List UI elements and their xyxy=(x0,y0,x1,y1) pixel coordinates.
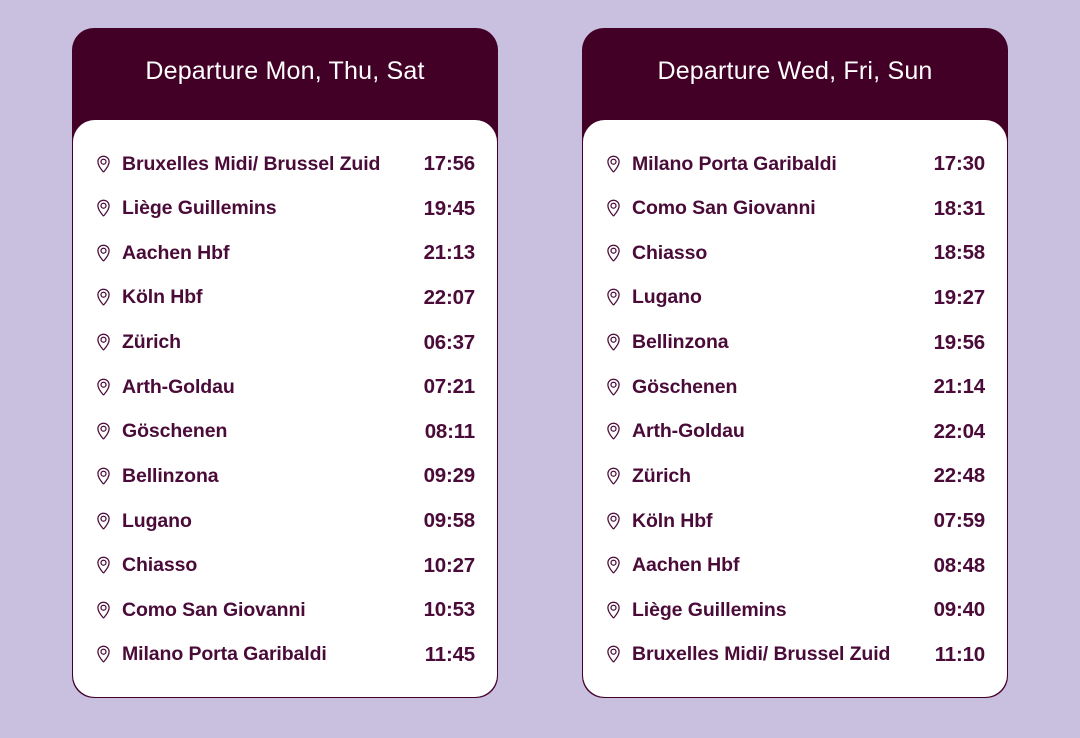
location-pin-icon xyxy=(605,556,622,575)
stop-name: Bruxelles Midi/ Brussel Zuid xyxy=(632,643,913,666)
location-pin-icon xyxy=(95,333,112,352)
stop-row[interactable]: Bruxelles Midi/ Brussel Zuid 17:56 xyxy=(95,142,475,186)
stop-time: 10:53 xyxy=(412,598,475,622)
stop-name: Arth-Goldau xyxy=(122,376,402,399)
stop-row[interactable]: Zürich 22:48 xyxy=(605,454,985,498)
card-title: Departure Wed, Fri, Sun xyxy=(657,57,932,86)
stop-time: 06:37 xyxy=(412,331,475,355)
stop-row[interactable]: Chiasso 18:58 xyxy=(605,231,985,275)
location-pin-icon xyxy=(95,467,112,486)
stop-time: 19:45 xyxy=(412,197,475,221)
stop-time: 08:11 xyxy=(413,420,475,444)
stop-time: 21:14 xyxy=(922,375,985,399)
stop-row[interactable]: Lugano 09:58 xyxy=(95,499,475,543)
stop-time: 11:10 xyxy=(923,643,985,667)
departure-card-mon-thu-sat: Departure Mon, Thu, Sat Bruxelles Midi/ … xyxy=(72,28,498,698)
stop-time: 18:31 xyxy=(922,197,985,221)
departure-boards: Departure Mon, Thu, Sat Bruxelles Midi/ … xyxy=(0,0,1080,738)
stop-name: Zürich xyxy=(122,331,402,354)
location-pin-icon xyxy=(95,155,112,174)
stop-time: 22:07 xyxy=(412,286,475,310)
stop-row[interactable]: Chiasso 10:27 xyxy=(95,544,475,588)
stop-time: 19:27 xyxy=(922,286,985,310)
stop-name: Lugano xyxy=(632,286,912,309)
stop-name: Milano Porta Garibaldi xyxy=(632,153,912,176)
stop-time: 17:30 xyxy=(922,152,985,176)
stop-time: 07:59 xyxy=(922,509,985,533)
stop-name: Como San Giovanni xyxy=(122,599,402,622)
stop-row[interactable]: Milano Porta Garibaldi 11:45 xyxy=(95,633,475,677)
stop-time: 17:56 xyxy=(412,152,475,176)
location-pin-icon xyxy=(95,422,112,441)
stop-row[interactable]: Lugano 19:27 xyxy=(605,276,985,320)
stop-list: Bruxelles Midi/ Brussel Zuid 17:56 Liège… xyxy=(73,120,497,697)
card-header: Departure Mon, Thu, Sat xyxy=(72,28,498,120)
location-pin-icon xyxy=(95,512,112,531)
stop-time: 11:45 xyxy=(413,643,475,667)
stop-name: Arth-Goldau xyxy=(632,420,912,443)
stop-row[interactable]: Milano Porta Garibaldi 17:30 xyxy=(605,142,985,186)
stop-row[interactable]: Köln Hbf 07:59 xyxy=(605,499,985,543)
stop-name: Milano Porta Garibaldi xyxy=(122,643,403,666)
location-pin-icon xyxy=(95,645,112,664)
location-pin-icon xyxy=(95,244,112,263)
location-pin-icon xyxy=(605,378,622,397)
stop-name: Lugano xyxy=(122,510,402,533)
stop-row[interactable]: Köln Hbf 22:07 xyxy=(95,276,475,320)
stop-row[interactable]: Zürich 06:37 xyxy=(95,321,475,365)
location-pin-icon xyxy=(605,244,622,263)
stop-name: Aachen Hbf xyxy=(632,554,912,577)
stop-name: Köln Hbf xyxy=(632,510,912,533)
stop-name: Liège Guillemins xyxy=(632,599,912,622)
stop-time: 10:27 xyxy=(412,554,475,578)
stop-time: 21:13 xyxy=(412,241,475,265)
stop-time: 22:48 xyxy=(922,464,985,488)
stop-name: Göschenen xyxy=(122,420,403,443)
location-pin-icon xyxy=(95,601,112,620)
stop-name: Köln Hbf xyxy=(122,286,402,309)
card-title: Departure Mon, Thu, Sat xyxy=(145,57,424,86)
stop-name: Chiasso xyxy=(122,554,402,577)
stop-time: 09:58 xyxy=(412,509,475,533)
stop-row[interactable]: Arth-Goldau 07:21 xyxy=(95,365,475,409)
location-pin-icon xyxy=(605,645,622,664)
location-pin-icon xyxy=(605,512,622,531)
card-header: Departure Wed, Fri, Sun xyxy=(582,28,1008,120)
location-pin-icon xyxy=(95,556,112,575)
stop-name: Bellinzona xyxy=(632,331,912,354)
stop-row[interactable]: Como San Giovanni 18:31 xyxy=(605,187,985,231)
stop-list: Milano Porta Garibaldi 17:30 Como San Gi… xyxy=(583,120,1007,697)
location-pin-icon xyxy=(95,288,112,307)
location-pin-icon xyxy=(605,199,622,218)
stop-row[interactable]: Liège Guillemins 09:40 xyxy=(605,588,985,632)
stop-time: 09:29 xyxy=(412,464,475,488)
stop-row[interactable]: Bellinzona 09:29 xyxy=(95,454,475,498)
stop-row[interactable]: Bruxelles Midi/ Brussel Zuid 11:10 xyxy=(605,633,985,677)
stop-row[interactable]: Aachen Hbf 08:48 xyxy=(605,544,985,588)
location-pin-icon xyxy=(605,288,622,307)
stop-time: 22:04 xyxy=(922,420,985,444)
location-pin-icon xyxy=(95,378,112,397)
stop-row[interactable]: Como San Giovanni 10:53 xyxy=(95,588,475,632)
stop-row[interactable]: Göschenen 21:14 xyxy=(605,365,985,409)
stop-name: Como San Giovanni xyxy=(632,197,912,220)
location-pin-icon xyxy=(95,199,112,218)
stop-name: Liège Guillemins xyxy=(122,197,402,220)
stop-row[interactable]: Liège Guillemins 19:45 xyxy=(95,187,475,231)
location-pin-icon xyxy=(605,601,622,620)
stop-row[interactable]: Göschenen 08:11 xyxy=(95,410,475,454)
stop-time: 09:40 xyxy=(922,598,985,622)
stop-name: Zürich xyxy=(632,465,912,488)
stop-time: 08:48 xyxy=(922,554,985,578)
stop-name: Bruxelles Midi/ Brussel Zuid xyxy=(122,153,402,176)
stop-row[interactable]: Arth-Goldau 22:04 xyxy=(605,410,985,454)
stop-row[interactable]: Aachen Hbf 21:13 xyxy=(95,231,475,275)
stop-row[interactable]: Bellinzona 19:56 xyxy=(605,321,985,365)
stop-time: 19:56 xyxy=(922,331,985,355)
location-pin-icon xyxy=(605,467,622,486)
departure-card-wed-fri-sun: Departure Wed, Fri, Sun Milano Porta Gar… xyxy=(582,28,1008,698)
stop-name: Bellinzona xyxy=(122,465,402,488)
stop-time: 18:58 xyxy=(922,241,985,265)
stop-time: 07:21 xyxy=(412,375,475,399)
stop-name: Aachen Hbf xyxy=(122,242,402,265)
location-pin-icon xyxy=(605,422,622,441)
stop-name: Chiasso xyxy=(632,242,912,265)
location-pin-icon xyxy=(605,333,622,352)
location-pin-icon xyxy=(605,155,622,174)
stop-name: Göschenen xyxy=(632,376,912,399)
